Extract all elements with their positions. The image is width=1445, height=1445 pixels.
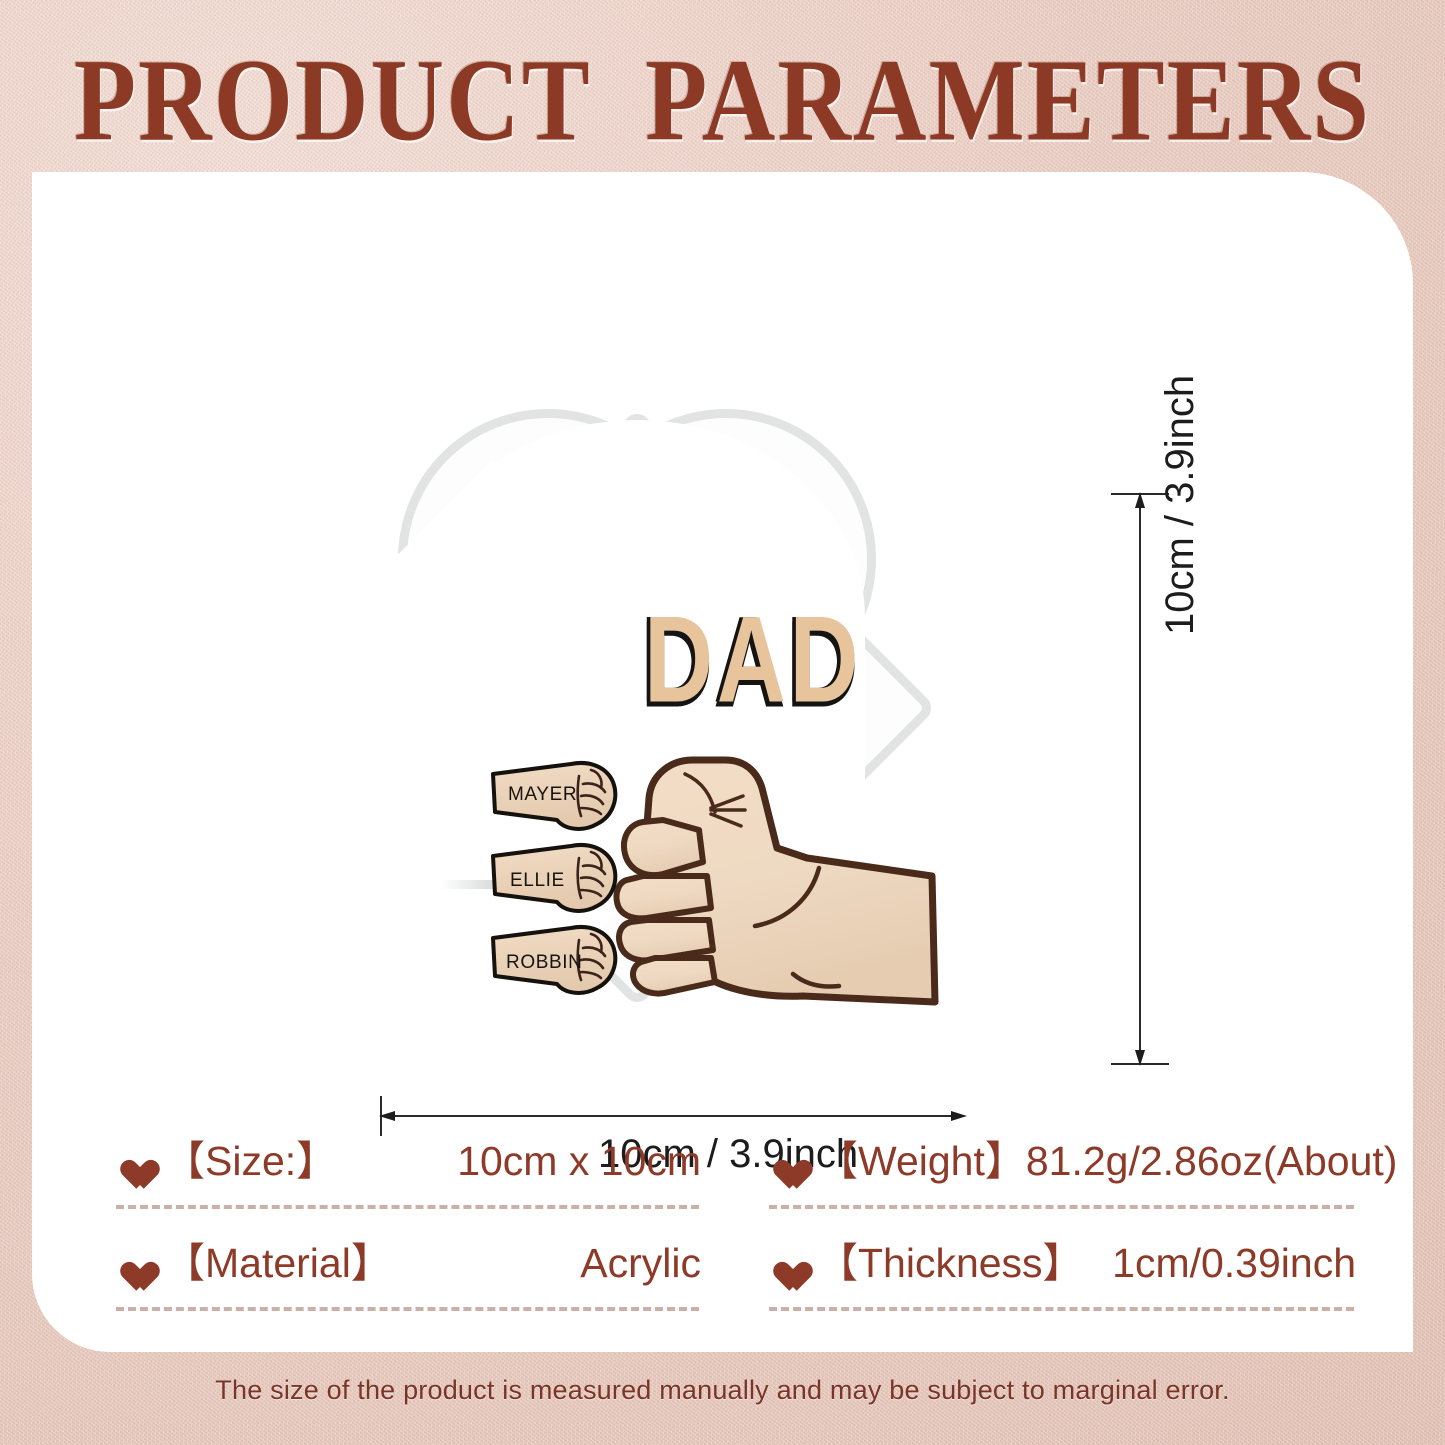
- product-preview-stage: DAD: [32, 172, 1413, 1034]
- spec-key-thickness: 【Thickness】: [817, 1229, 1084, 1289]
- spec-value-thickness: 1cm/0.39inch: [1112, 1240, 1356, 1287]
- spec-value-weight: 81.2g/2.86oz(About): [1026, 1138, 1398, 1185]
- spec-key-weight: 【Weight】: [817, 1127, 1026, 1187]
- spec-divider: [116, 1307, 699, 1311]
- plaque-name-dad: DAD: [644, 599, 862, 722]
- spec-row: 【Material】 Acrylic 【Thickness】 1cm/0.39i…: [82, 1229, 1372, 1331]
- heart-bullet-icon: [114, 1250, 148, 1281]
- spec-value-material: Acrylic: [580, 1240, 701, 1287]
- child-name-label-1: MAYER: [508, 784, 577, 806]
- product-card: DAD: [32, 172, 1413, 1352]
- heart-bullet-icon: [767, 1148, 801, 1179]
- child-name-label-3: ROBBIN: [506, 952, 582, 974]
- measurement-disclaimer: The size of the product is measured manu…: [0, 1375, 1445, 1406]
- spec-cell-material: 【Material】 Acrylic: [82, 1229, 727, 1331]
- page-title: PRODUCT PARAMETERS: [0, 42, 1445, 159]
- dad-fist-icon: [607, 730, 957, 1030]
- spec-divider: [769, 1307, 1354, 1311]
- spec-key-size: 【Size:】: [164, 1127, 337, 1187]
- spec-cell-size: 【Size:】 10cm x 10cm: [82, 1127, 727, 1229]
- heart-bullet-icon: [767, 1250, 801, 1281]
- spec-divider: [769, 1205, 1354, 1209]
- spec-key-material: 【Material】: [164, 1229, 392, 1289]
- spec-table: 【Size:】 10cm x 10cm 【Weight】 81.2g/2.86o…: [82, 1127, 1372, 1331]
- spec-cell-thickness: 【Thickness】 1cm/0.39inch: [727, 1229, 1372, 1331]
- spec-divider: [116, 1205, 699, 1209]
- spec-value-size: 10cm x 10cm: [457, 1138, 701, 1185]
- height-dimension-label: 10cm / 3.9inch: [1158, 375, 1203, 635]
- heart-bullet-icon: [114, 1148, 148, 1179]
- child-name-label-2: ELLIE: [510, 870, 565, 892]
- spec-row: 【Size:】 10cm x 10cm 【Weight】 81.2g/2.86o…: [82, 1127, 1372, 1229]
- spec-cell-weight: 【Weight】 81.2g/2.86oz(About): [727, 1127, 1372, 1229]
